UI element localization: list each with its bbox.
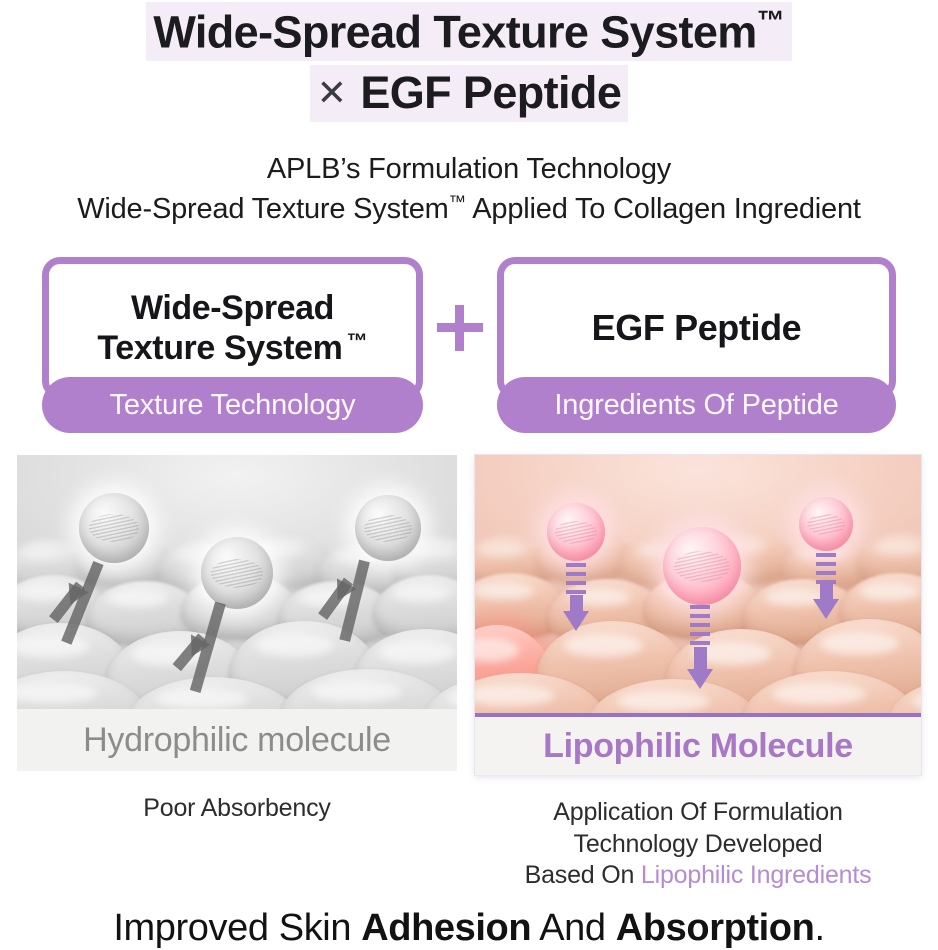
subtitle-line-2-after: Applied To Collagen Ingredient [466,193,861,225]
title-text-secondary-label: EGF Peptide [360,67,621,118]
absorb-arrow-icon [687,605,713,691]
trademark-icon: ™ [449,192,466,212]
title-line-1: Wide-Spread Texture System™ [0,2,938,61]
lipophilic-caption-label: Lipophilic Molecule [543,727,853,766]
card-texture-technology: Wide-Spread Texture System™ Texture Tech… [42,257,423,399]
subtitle-block: APLB’s Formulation Technology Wide-Sprea… [0,149,938,229]
lipophilic-note-line2: Technology Developed [574,830,823,858]
footer-bold-absorption: Absorption [616,907,815,949]
subtitle-line-2-before: Wide-Spread Texture System [77,193,448,225]
hydrophilic-molecule-sphere [201,537,273,609]
lipophilic-molecule-sphere [547,503,605,561]
panels-row: Hydrophilic molecule Poor Absorbency [0,455,938,891]
panel-lipophilic: Lipophilic Molecule Application Of Formu… [475,455,921,891]
panel-hydrophilic: Hydrophilic molecule Poor Absorbency [17,455,457,891]
hydrophilic-molecule-sphere [355,495,421,561]
title-line-2: ✕EGF Peptide [0,65,938,122]
card-egf-title: EGF Peptide [584,307,810,349]
card-egf-pill: Ingredients Of Peptide [497,377,896,433]
lipophilic-caption: Lipophilic Molecule [475,713,921,775]
cross-multiply-icon: ✕ [317,72,361,113]
hydrophilic-illustration [17,455,457,709]
repel-arrow-icon [185,603,255,703]
repel-arrow-icon [65,563,135,653]
footer-part-2: And [531,907,616,949]
molecule-core-icon [555,521,597,544]
trademark-icon: ™ [757,5,785,36]
panel-hydrophilic-card: Hydrophilic molecule [17,455,457,771]
trademark-icon: ™ [343,330,368,353]
molecule-core-icon [211,559,263,588]
plus-icon [423,257,497,399]
subtitle-line-2: Wide-Spread Texture System™ Applied To C… [0,189,938,229]
molecule-core-icon [674,551,730,582]
card-texture-title: Wide-Spread Texture System™ [89,288,375,368]
absorb-arrow-icon [563,563,589,631]
molecule-core-icon [807,514,846,536]
title-block: Wide-Spread Texture System™ ✕EGF Peptide [0,0,938,122]
cards-row: Wide-Spread Texture System™ Texture Tech… [0,257,938,399]
hydrophilic-note: Poor Absorbency [17,793,457,824]
lipophilic-molecule-sphere [799,497,853,551]
lipophilic-note: Application Of Formulation Technology De… [475,797,921,891]
subtitle-line-1: APLB’s Formulation Technology [0,149,938,189]
footer-statement: Improved Skin Adhesion And Absorption. [0,907,938,950]
hydrophilic-caption: Hydrophilic molecule [17,709,457,771]
absorb-arrow-icon [813,553,839,619]
footer-part-3: . [814,907,824,949]
molecule-core-icon [89,514,139,542]
card-texture-pill-label: Texture Technology [110,389,356,422]
lipophilic-note-line3-accent: Lipophilic Ingredients [641,861,871,889]
lipophilic-illustration [475,455,921,713]
card-texture-title-line2: Texture System [97,329,342,367]
card-texture-title-line1: Wide-Spread [131,289,334,327]
footer-part-1: Improved Skin [113,907,361,949]
panel-lipophilic-card: Lipophilic Molecule [475,455,921,775]
footer-bold-adhesion: Adhesion [361,907,531,949]
title-text-primary: Wide-Spread Texture System™ [146,2,791,61]
hydrophilic-note-label: Poor Absorbency [143,794,330,822]
lipophilic-note-line1: Application Of Formulation [553,798,842,826]
lipophilic-note-line3-before: Based On [525,861,641,889]
hydrophilic-molecule-sphere [79,493,149,563]
title-text-primary-label: Wide-Spread Texture System [153,6,756,57]
lipophilic-molecule-sphere [663,527,741,605]
repel-arrow-icon [329,561,399,653]
card-egf-peptide: EGF Peptide Ingredients Of Peptide [497,257,896,399]
card-texture-pill: Texture Technology [42,377,423,433]
card-egf-pill-label: Ingredients Of Peptide [554,389,838,422]
hydrophilic-caption-label: Hydrophilic molecule [83,721,391,760]
molecule-core-icon [364,515,412,541]
title-text-secondary: ✕EGF Peptide [310,65,629,122]
